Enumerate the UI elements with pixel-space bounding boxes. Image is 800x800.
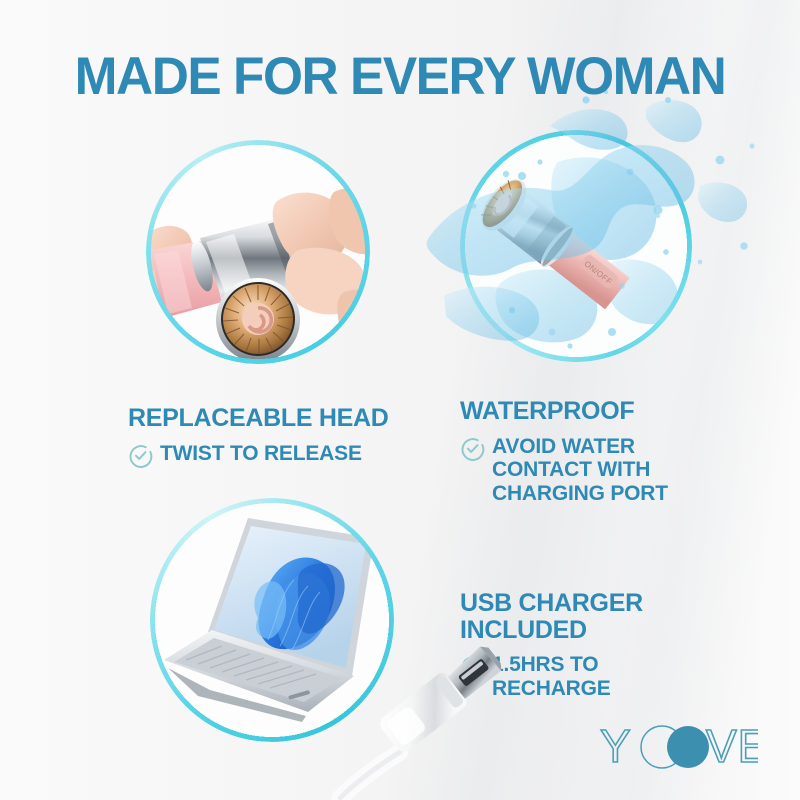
feature-bullet-text-replaceable-head: TWIST TO RELEASE: [160, 442, 362, 466]
logo-letters-ve: VE: [706, 720, 758, 772]
feature-title-replaceable-head: REPLACEABLE HEAD: [128, 405, 428, 432]
check-circle-icon: [128, 443, 153, 468]
feature-bullet-usb-charger: 1.5HRS TO RECHARGE: [460, 653, 710, 701]
check-circle-icon: [460, 436, 485, 461]
product-photo-waterproof: ON/OFF: [462, 132, 690, 360]
feature-waterproof: WATERPROOF AVOID WATER CONTACT WITH CHAR…: [460, 398, 710, 506]
feature-usb-charger: USB CHARGER INCLUDED 1.5HRS TO RECHARGE: [460, 590, 710, 701]
feature-bullet-text-usb-charger: 1.5HRS TO RECHARGE: [492, 653, 611, 701]
feature-replaceable-head: REPLACEABLE HEAD TWIST TO RELEASE: [128, 405, 428, 468]
product-photo-replaceable-head: [148, 142, 368, 362]
feature-title-waterproof: WATERPROOF: [460, 398, 710, 425]
check-circle-icon: [460, 654, 485, 679]
replacement-head: [216, 278, 300, 362]
page-title: MADE FOR EVERY WOMAN: [12, 46, 788, 107]
logo-letter-y: Y: [600, 720, 632, 772]
product-photo-usb-charger: [152, 500, 392, 740]
feature-bullet-waterproof: AVOID WATER CONTACT WITH CHARGING PORT: [460, 435, 710, 507]
feature-title-usb-charger: USB CHARGER INCLUDED: [460, 590, 710, 643]
feature-bullet-text-waterproof: AVOID WATER CONTACT WITH CHARGING PORT: [492, 435, 668, 507]
feature-bullet-replaceable-head: TWIST TO RELEASE: [128, 442, 428, 468]
yoove-logo: Y VE: [598, 716, 758, 778]
